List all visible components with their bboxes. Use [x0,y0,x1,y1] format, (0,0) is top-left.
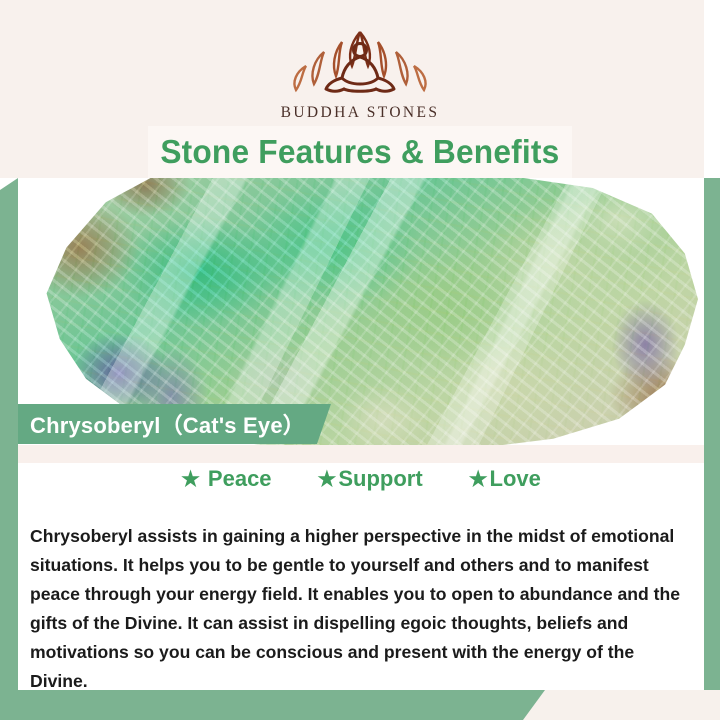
star-icon: ★ [318,469,337,490]
stone-description: Chrysoberyl assists in gaining a higher … [30,522,690,696]
page-title-strip: Stone Features & Benefits [148,126,572,178]
star-icon: ★ [469,469,488,490]
stone-name-banner: Chrysoberyl（Cat's Eye） [18,404,331,444]
lotus-meditation-icon [280,22,440,100]
page-title: Stone Features & Benefits [160,133,559,171]
frame-left-band [0,178,18,690]
keyword-peace-label: Peace [208,466,272,492]
photo-bottom-cream-strip [18,445,704,463]
star-icon: ★ [181,469,200,490]
header-panel: BUDDHA STONES Stone Features & Benefits [0,0,720,178]
keyword-peace: ★ Peace [181,466,271,492]
keyword-love-label: Love [490,466,541,492]
stone-benefits-infographic: BUDDHA STONES Stone Features & Benefits … [0,0,720,720]
brand-name: BUDDHA STONES [0,104,720,122]
keyword-support: ★ Support [318,466,423,492]
keyword-list: ★ Peace ★ Support ★ Love [18,466,704,492]
brand-logo: BUDDHA STONES [0,22,720,122]
stone-name-label: Chrysoberyl（Cat's Eye） [30,408,305,440]
keyword-love: ★ Love [469,466,541,492]
keyword-support-label: Support [338,466,422,492]
